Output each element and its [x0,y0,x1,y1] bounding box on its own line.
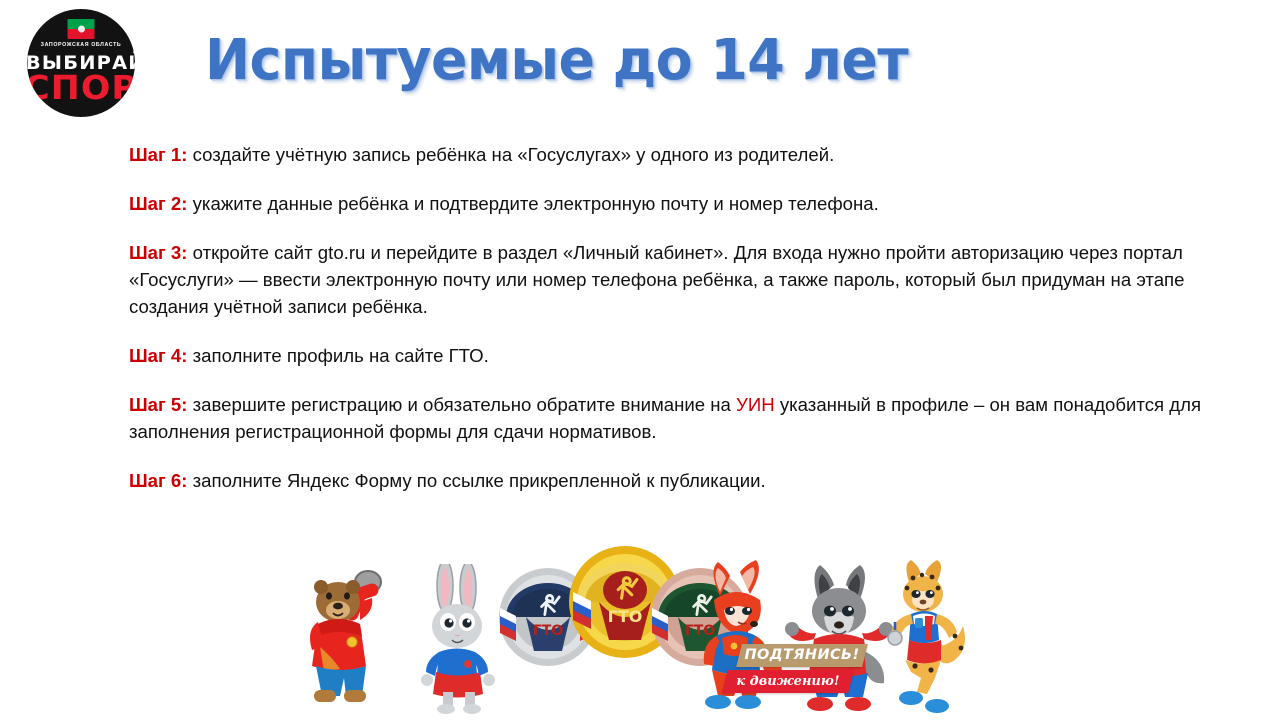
step-label-5: Шаг 5: [129,394,187,415]
step-text-1: создайте учётную запись ребёнка на «Госу… [187,144,834,165]
step-text-2: укажите данные ребёнка и подтвердите эле… [187,193,878,214]
step-label-2: Шаг 2: [129,193,187,214]
step-label-3: Шаг 3: [129,242,187,263]
step-item-3: Шаг 3: откройте сайт gto.ru и перейдите … [129,239,1219,320]
leopard-runner-mascot [875,556,975,714]
mascot-strip: ГТО ГТО [300,552,960,720]
vybiray-sport-logo: ЗАПОРОЖСКАЯ ОБЛАСТЬ ВЫБИРАЙ СПОРТ [27,9,135,117]
badge-label-silver: ГТО [533,623,563,639]
logo-region-text: ЗАПОРОЖСКАЯ ОБЛАСТЬ [27,42,135,48]
flag-emblem-icon [78,26,85,33]
podtyanis-banner: ПОДТЯНИСЬ! к движению! [725,644,865,698]
logo-line-sport: СПОРТ [27,71,135,104]
banner-top-bar: ПОДТЯНИСЬ! [736,644,868,667]
step-text-4: заполните профиль на сайте ГТО. [187,345,488,366]
step-item-4: Шаг 4: заполните профиль на сайте ГТО. [129,342,1219,369]
banner-bottom-bar: к движению! [722,670,854,693]
step-item-6: Шаг 6: заполните Яндекс Форму по ссылке … [129,467,1219,494]
banner-line-1: ПОДТЯНИСЬ! [739,644,865,667]
zaporozhye-flag-icon [68,19,95,39]
step-label-4: Шаг 4: [129,345,187,366]
step-item-5: Шаг 5: завершите регистрацию и обязатель… [129,391,1219,445]
banner-line-2: к движению! [725,670,851,693]
step-text-3: откройте сайт gto.ru и перейдите в разде… [129,242,1184,317]
bear-shotput-mascot [300,562,420,714]
uin-highlight: УИН [736,394,775,415]
step-item-1: Шаг 1: создайте учётную запись ребёнка н… [129,141,1219,168]
step-label-6: Шаг 6: [129,470,187,491]
steps-list: Шаг 1: создайте учётную запись ребёнка н… [129,141,1219,494]
step-text-5-before: завершите регистрацию и обязательно обра… [187,394,736,415]
page-title: Испытуемые до 14 лет [205,28,915,93]
bunny-mascot [412,564,504,714]
step-text-6: заполните Яндекс Форму по ссылке прикреп… [187,470,765,491]
badge-label-gold: ГТО [608,607,643,626]
step-item-2: Шаг 2: укажите данные ребёнка и подтверд… [129,190,1219,217]
step-label-1: Шаг 1: [129,144,187,165]
